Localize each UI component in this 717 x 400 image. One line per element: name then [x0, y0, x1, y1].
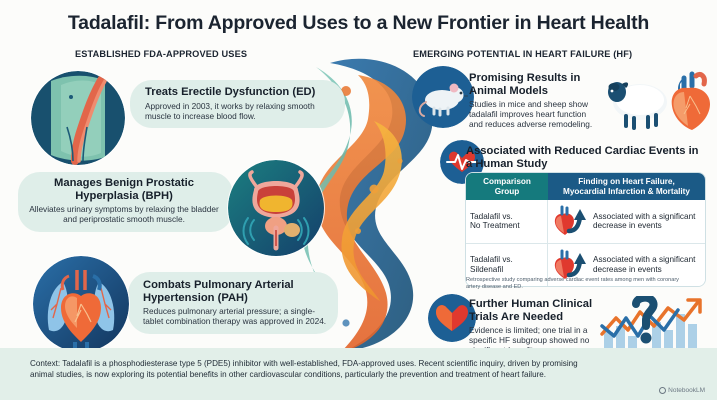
footer-bar: Context: Tadalafil is a phosphodiesteras… [0, 348, 717, 400]
heart-up-arrow-icon [552, 205, 590, 238]
card-bph-body: Alleviates urinary symptoms by relaxing … [24, 204, 224, 224]
table-header-row: Comparison Group Finding on Heart Failur… [466, 173, 705, 200]
table-row1-group-line2: No Treatment [470, 221, 520, 230]
card-pah-body: Reduces pulmonary arterial pressure; a s… [143, 306, 331, 326]
mouse-icon [412, 66, 474, 128]
card-bph-title: Manages Benign Prostatic Hyperplasia (BP… [24, 177, 224, 202]
left-column-header: ESTABLISHED FDA-APPROVED USES [75, 49, 247, 59]
table-header-col1-line2: Group [495, 187, 520, 196]
cardiac-events-table: Comparison Group Finding on Heart Failur… [466, 173, 705, 286]
page-title: Tadalafil: From Approved Uses to a New F… [0, 12, 717, 35]
table-cell-group: Tadalafil vs. No Treatment [466, 200, 548, 243]
table-row2-finding-text: Associated with a significant decrease i… [593, 255, 701, 274]
card-animal-models-title: Promising Results in Animal Models [469, 72, 599, 97]
table-header-comparison-group: Comparison Group [466, 173, 548, 200]
table-header-col1-line1: Comparison [483, 177, 531, 186]
card-pah-title: Combats Pulmonary Arterial Hypertension … [143, 279, 331, 304]
table-row2-group-line1: Tadalafil vs. [470, 255, 513, 264]
notebooklm-watermark-text: NotebookLM [668, 387, 705, 394]
card-further-trials-text: Further Human Clinical Trials Are Needed… [469, 298, 599, 355]
card-bph-text: Manages Benign Prostatic Hyperplasia (BP… [24, 177, 224, 224]
table-row1-group-line1: Tadalafil vs. [470, 212, 513, 221]
context-text: Context: Tadalafil is a phosphodiesteras… [30, 358, 590, 380]
table-header-finding: Finding on Heart Failure, Myocardial Inf… [548, 173, 705, 200]
card-further-trials-title: Further Human Clinical Trials Are Needed [469, 298, 599, 323]
card-pah-text: Combats Pulmonary Arterial Hypertension … [143, 279, 331, 326]
notebooklm-watermark: NotebookLM [659, 387, 705, 394]
card-animal-models-text: Promising Results in Animal Models Studi… [469, 72, 599, 129]
table-header-col2-line2: Myocardial Infarction & Mortality [563, 187, 690, 196]
card-human-study-title: Associated with Reduced Cardiac Events i… [466, 145, 701, 170]
card-ed-text: Treats Erectile Dysfunction (ED) Approve… [145, 86, 337, 121]
sheep-heart-icon [600, 70, 712, 132]
heart-lungs-icon [33, 256, 129, 352]
notebooklm-logo-icon [659, 387, 666, 394]
table-header-col2-line1: Finding on Heart Failure, [578, 177, 674, 186]
card-human-study-title-text: Associated with Reduced Cardiac Events i… [466, 145, 701, 170]
card-ed-body: Approved in 2003, it works by relaxing s… [145, 101, 337, 121]
table-row1-finding-text: Associated with a significant decrease i… [593, 212, 701, 231]
table-cell-finding: Associated with a significant decrease i… [548, 200, 705, 243]
table-footnote: Retrospective study comparing adverse ca… [466, 277, 681, 291]
infographic-canvas: Tadalafil: From Approved Uses to a New F… [0, 0, 717, 400]
table-row2-group-line2: Sildenafil [470, 265, 503, 274]
chart-question-icon [600, 296, 704, 352]
card-animal-models-body: Studies in mice and sheep show tadalafil… [469, 99, 599, 129]
table-row: Tadalafil vs. No Treatment Associated wi… [466, 200, 705, 243]
right-column-header: EMERGING POTENTIAL IN HEART FAILURE (HF) [413, 49, 632, 59]
card-ed-title: Treats Erectile Dysfunction (ED) [145, 86, 337, 99]
bladder-prostate-icon [228, 160, 324, 256]
pelvic-anatomy-icon [31, 71, 125, 165]
